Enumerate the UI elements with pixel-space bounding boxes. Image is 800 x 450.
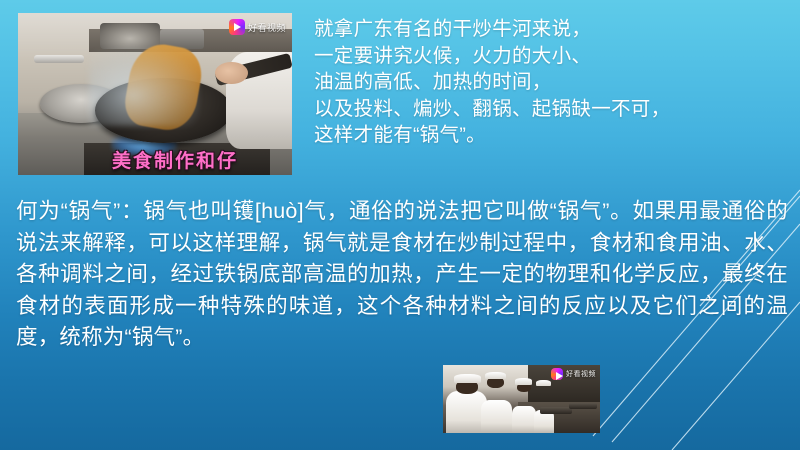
photo-wok-steam [89,49,199,127]
photo-kitchen-chef-1-hat [454,374,481,383]
watermark-haokan-kitchen: 好看视频 [551,368,596,380]
intro-line-2: 一定要讲究火候，火力的大小、 [314,43,796,70]
photo-kitchen-chef-4-hat [536,380,552,386]
play-icon [551,368,563,380]
photo-kitchen-pan-1 [540,407,571,414]
photo-kitchen-chef-3 [512,406,536,433]
play-icon [229,19,245,35]
intro-text-block: 就拿广东有名的干炒牛河来说， 一定要讲究火候，火力的大小、 油温的高低、加热的时… [314,16,796,149]
photo-kitchen-chef-3-hat [515,378,532,385]
photo-kitchen-chef-2 [481,400,512,433]
photo-wok-faucet [34,55,83,63]
photo-kitchen-chef-2-hat [485,372,505,379]
watermark-label: 好看视频 [566,369,596,379]
definition-paragraph: 何为“锅气”：锅气也叫镬[huò]气，通俗的说法把它叫做“锅气”。如果用最通俗的… [16,196,788,354]
watermark-haokan-wok: 好看视频 [229,19,286,35]
watermark-label: 好看视频 [248,21,286,34]
photo-kitchen-chefs: 好看视频 [443,365,600,433]
slide-canvas: 好看视频 美食制作和仔 就拿广东有名的干炒牛河来说， 一定要讲究火候，火力的大小… [0,0,800,450]
photo-kitchen-pan-2 [569,403,597,409]
intro-line-5: 这样才能有“锅气”。 [314,122,796,149]
intro-line-1: 就拿广东有名的干炒牛河来说， [314,16,796,43]
photo-wok-caption: 美食制作和仔 [112,146,238,173]
intro-line-3: 油温的高低、加热的时间， [314,69,796,96]
photo-wok-pots [100,23,160,49]
intro-line-4: 以及投料、煸炒、翻锅、起锅缺一不可， [314,96,796,123]
